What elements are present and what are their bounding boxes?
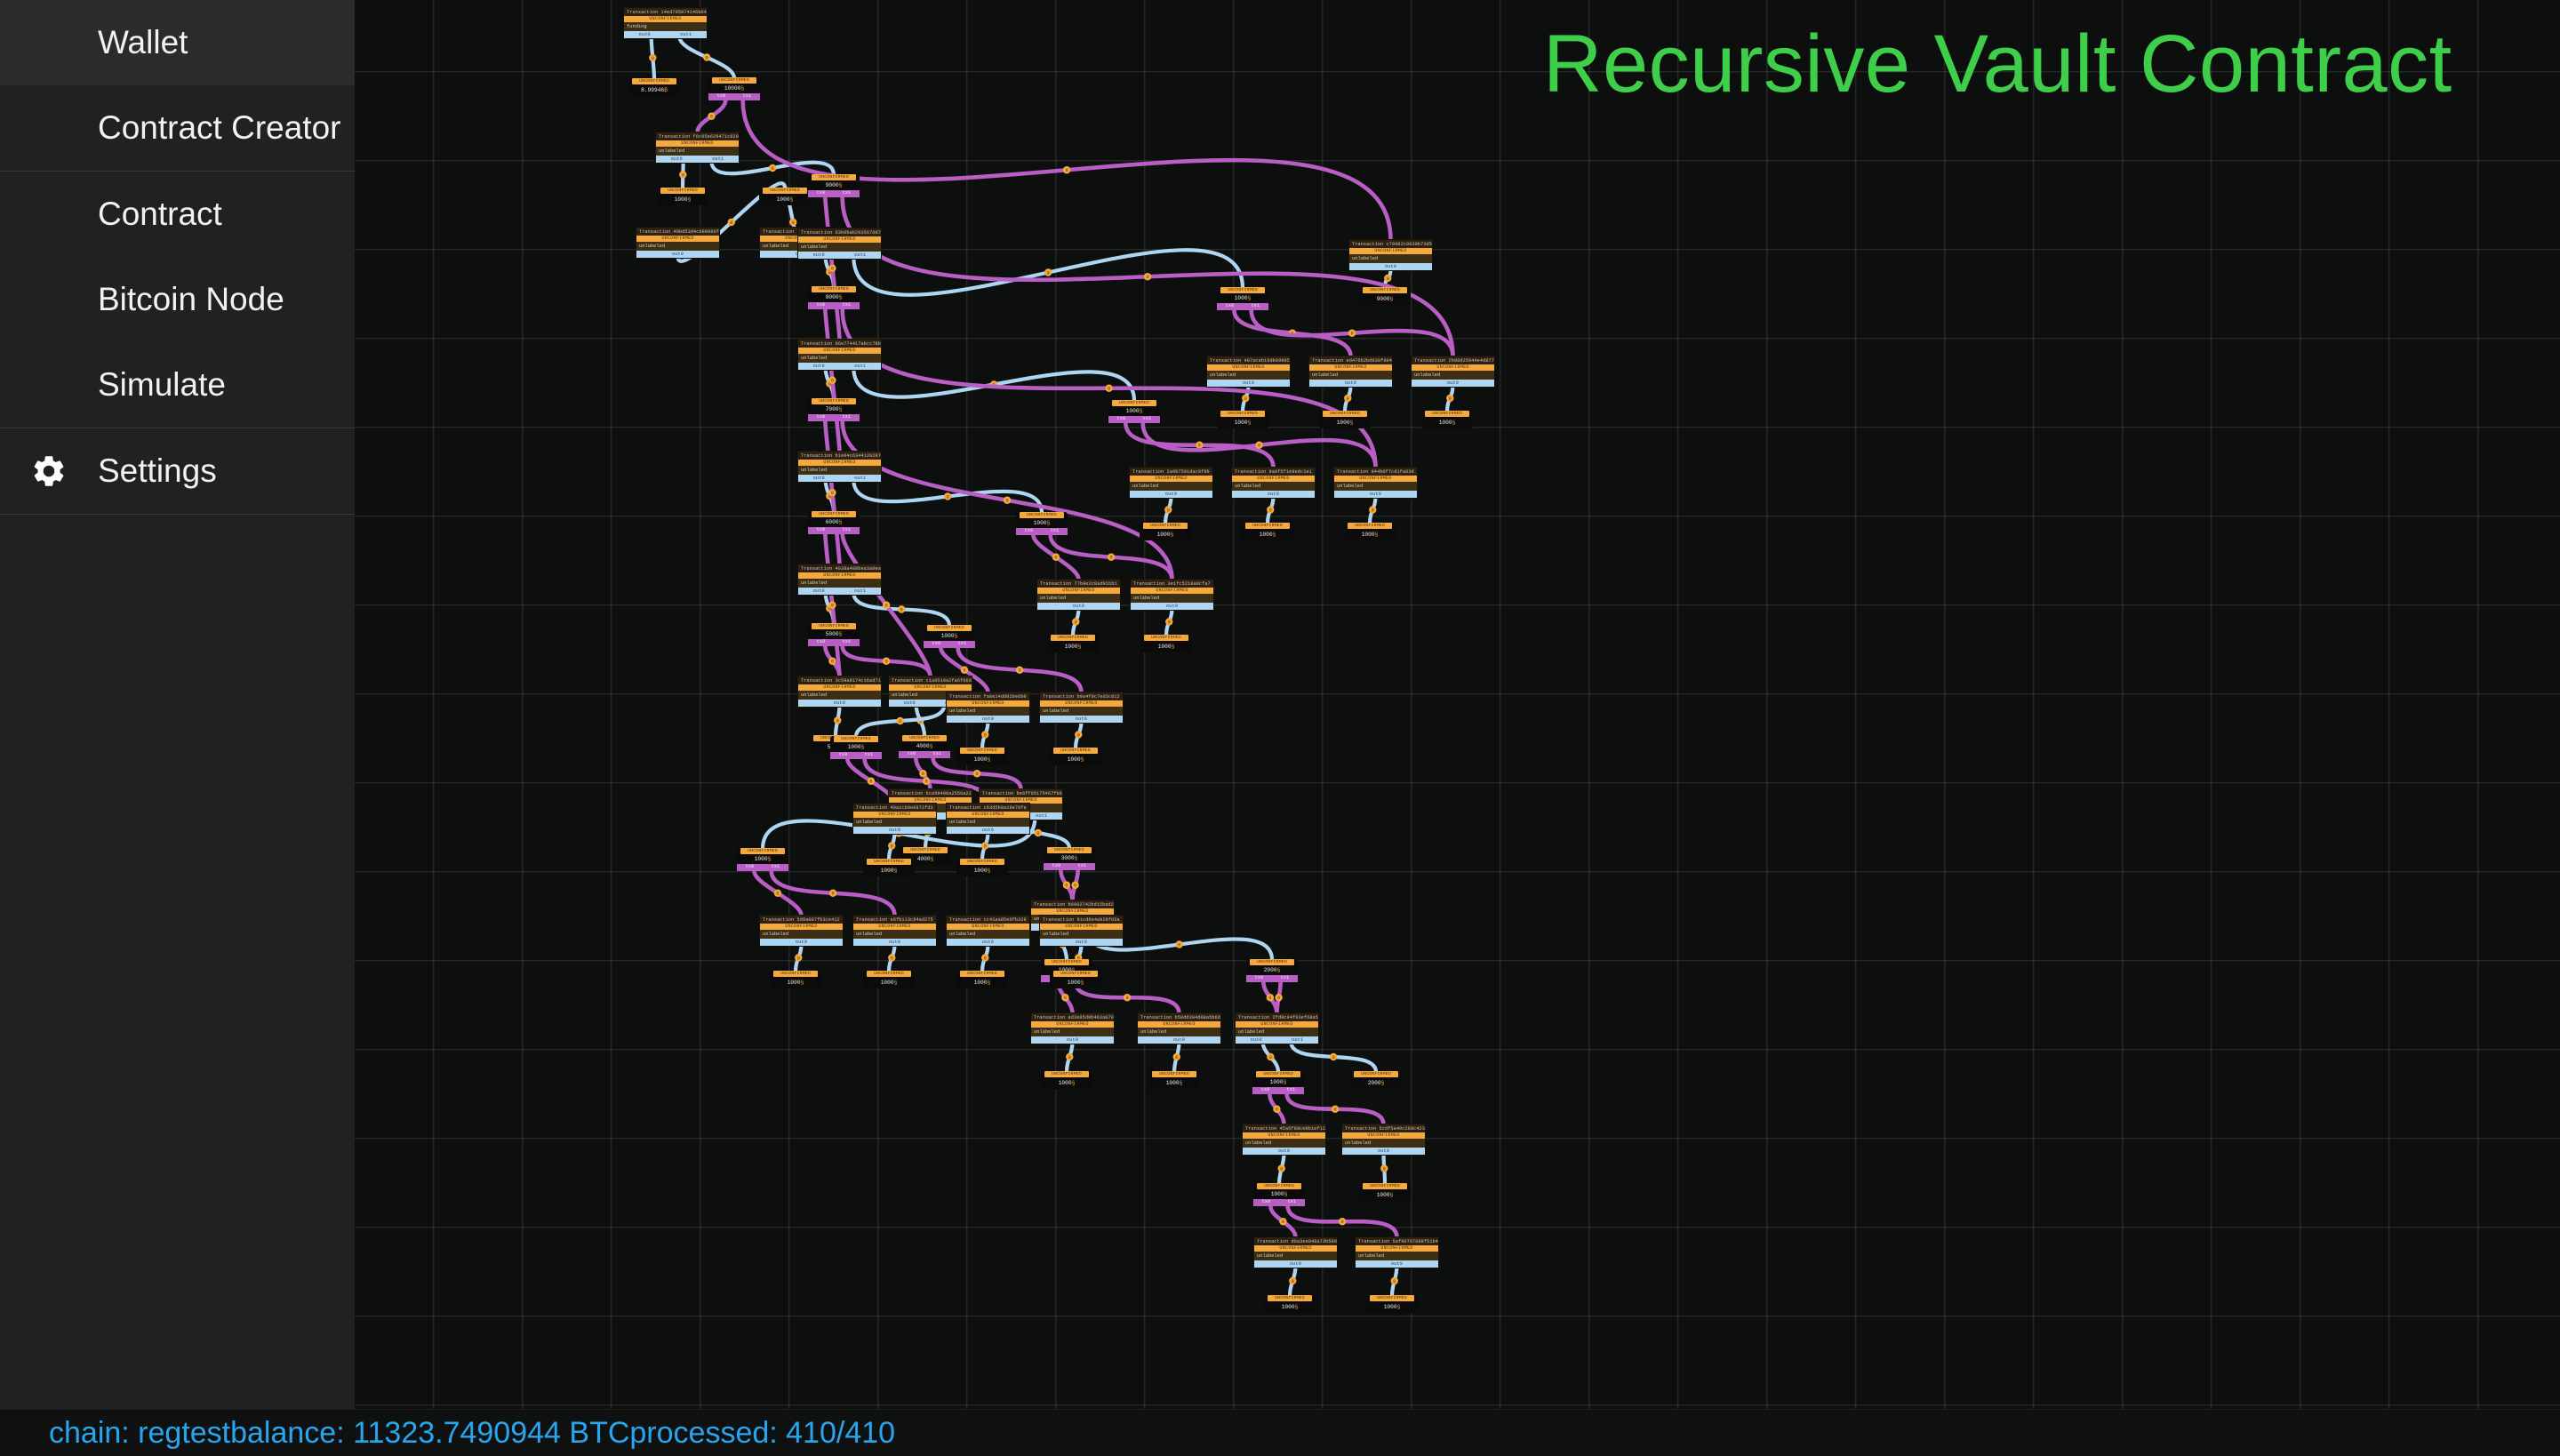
sidebar-item-contract-creator[interactable]: Contract Creator [0, 85, 355, 171]
output-port-0[interactable]: out0 [1243, 380, 1254, 387]
transaction-outputs[interactable]: out0 [1232, 491, 1315, 498]
status-badge: UNCONFIRMED [1031, 1021, 1114, 1028]
transaction-node[interactable]: Transaction d44b0f7cd1fa03dUNCONFIRMEDun… [1333, 467, 1418, 499]
edge-index-label: 0 [900, 607, 903, 612]
transaction-outputs[interactable]: out0 [1031, 1036, 1114, 1044]
status-badge: UNCONFIRMED [1236, 1021, 1318, 1028]
transaction-node[interactable]: Transaction 14ed705074146b04UNCONFIRMEDf… [623, 7, 708, 39]
utxo-node[interactable]: UNCONFIRMED8000§tx0tx1 [808, 286, 860, 309]
transaction-node[interactable]: Transaction 3e1fc5218a0cfa7UNCONFIRMEDun… [1130, 579, 1214, 611]
input-port-1[interactable]: tx1 [865, 752, 874, 759]
edge-index-label: 0 [885, 604, 888, 609]
edge-index-badge [973, 770, 980, 777]
input-port-1[interactable]: tx1 [743, 93, 752, 100]
output-port-0[interactable]: out0 [889, 827, 900, 834]
status-badge: UNCONFIRMED [1243, 1132, 1325, 1139]
transaction-hash: Transaction ad3e85d9b463a079 [1031, 1013, 1114, 1021]
transaction-outputs[interactable]: out0 [636, 251, 719, 258]
utxo-node[interactable]: UNCONFIRMED1000§ [1217, 411, 1268, 428]
transaction-outputs[interactable]: out0out1 [798, 252, 881, 259]
transaction-outputs[interactable]: out0 [1309, 380, 1392, 387]
utxo-node[interactable]: UNCONFIRMED1000§ [770, 971, 821, 988]
utxo-inputs[interactable]: tx0tx1 [708, 93, 760, 100]
utxo-node[interactable]: UNCONFIRMED1000§tx0tx1 [1253, 1183, 1305, 1206]
edge-index-badge [981, 842, 988, 849]
utxo-node[interactable]: UNCONFIRMED1000§ [657, 188, 708, 205]
transaction-outputs[interactable]: out0out1 [624, 31, 707, 38]
input-port-1[interactable]: tx1 [843, 414, 852, 421]
utxo-node[interactable]: UNCONFIRMED1000§tx0tx1 [1217, 287, 1268, 310]
utxo-amount-value: 4000 [916, 743, 930, 749]
edge-index-badge [828, 602, 836, 609]
output-port-0[interactable]: out0 [1173, 1036, 1185, 1044]
output-port-0[interactable]: out0 [834, 700, 845, 707]
edge-index-badge [1196, 442, 1203, 449]
graph-edge [1051, 535, 1172, 580]
input-port-0[interactable]: tx0 [817, 190, 826, 197]
utxo-inputs[interactable]: tx0tx1 [924, 641, 975, 648]
utxo-node[interactable]: UNCONFIRMED1000§ [1140, 635, 1192, 652]
edge-index-label: 0 [1334, 1108, 1337, 1113]
input-port-0[interactable]: tx0 [1226, 303, 1235, 310]
utxo-amount-value: 5000 [826, 631, 839, 637]
utxo-node[interactable]: UNCONFIRMED1000§ [956, 971, 1008, 988]
edge-index-badge [826, 268, 833, 276]
edge-index-badge [1384, 275, 1391, 282]
utxo-amount-value: 2000 [1264, 967, 1277, 973]
utxo-inputs[interactable]: tx0tx1 [1217, 303, 1268, 310]
transaction-outputs[interactable]: out0 [1138, 1036, 1220, 1044]
utxo-node[interactable]: UNCONFIRMED1000§tx0tx1 [1108, 400, 1160, 423]
input-port-1[interactable]: tx1 [1143, 416, 1152, 423]
graph-edge [1370, 496, 1376, 524]
transaction-node[interactable]: Transaction 77b9e2c8ad91bb1UNCONFIRMEDun… [1036, 579, 1121, 611]
utxo-amount-value: 1000 [1166, 1080, 1180, 1086]
transaction-label: unlabeled [760, 930, 843, 939]
utxo-inputs[interactable]: tx0tx1 [1044, 863, 1095, 870]
utxo-amount-value: 1000 [1235, 295, 1248, 301]
input-port-0[interactable]: tx0 [1261, 1087, 1270, 1094]
utxo-node[interactable]: UNCONFIRMED1000§ [863, 859, 915, 876]
output-port-0[interactable]: out0 [1251, 1036, 1262, 1044]
transaction-outputs[interactable]: out0 [1037, 603, 1120, 610]
utxo-node[interactable]: UNCONFIRMED1000§ [956, 859, 1008, 876]
input-port-0[interactable]: tx0 [817, 302, 826, 309]
output-port-1[interactable]: out1 [854, 588, 866, 595]
transaction-outputs[interactable]: out0 [1342, 1148, 1425, 1155]
utxo-node[interactable]: UNCONFIRMED7000§tx0tx1 [808, 398, 860, 421]
utxo-amount-value: 1000 [881, 868, 894, 874]
graph-edge [1345, 385, 1351, 412]
utxo-node[interactable]: UNCONFIRMED1000§ [1148, 1071, 1200, 1089]
edge-index-label: 0 [831, 660, 834, 665]
transaction-outputs[interactable]: out0 [1130, 491, 1212, 498]
input-port-0[interactable]: tx0 [1262, 1199, 1271, 1206]
edge-index-badge [923, 778, 930, 785]
utxo-inputs[interactable]: tx0tx1 [899, 751, 950, 758]
output-port-0[interactable]: out0 [1073, 603, 1084, 610]
utxo-amount: 1000§ [1050, 977, 1101, 988]
transaction-node[interactable]: Transaction e8fb113c94ad275UNCONFIRMEDun… [852, 915, 937, 947]
output-port-0[interactable]: out0 [813, 475, 825, 482]
status-badge: UNCONFIRMED [624, 16, 707, 22]
utxo-node[interactable]: UNCONFIRMED1000§ [1264, 1295, 1316, 1313]
transaction-node[interactable]: Transaction b9a4f0c7ed3c812UNCONFIRMEDun… [1039, 692, 1124, 724]
edge-index-badge [1105, 385, 1112, 392]
utxo-node[interactable]: UNCONFIRMED1000§ [1050, 971, 1101, 988]
output-port-0[interactable]: out0 [982, 716, 994, 723]
utxo-inputs[interactable]: tx0tx1 [1108, 416, 1160, 423]
utxo-node[interactable]: UNCONFIRMED1000§tx0tx1 [830, 736, 882, 759]
transaction-label: unlabeled [798, 691, 881, 700]
utxo-node[interactable]: UNCONFIRMED1000§tx0tx1 [1016, 512, 1068, 535]
sidebar-item-wallet[interactable]: Wallet [0, 0, 355, 85]
sidebar-item-simulate[interactable]: Simulate [0, 342, 355, 428]
transaction-hash: Transaction 5af90797089f51b4 [1356, 1237, 1438, 1245]
sidebar-item-label: Simulate [98, 366, 226, 404]
transaction-label: unlabeled [1031, 1028, 1114, 1036]
utxo-amount-value: 2000 [1368, 1080, 1381, 1086]
edge-index-label: 0 [1351, 332, 1354, 337]
status-badge: UNCONFIRMED [947, 924, 1029, 930]
output-port-0[interactable]: out0 [813, 588, 825, 595]
output-port-0[interactable]: out0 [1166, 603, 1178, 610]
utxo-node[interactable]: UNCONFIRMED5000§tx0tx1 [808, 623, 860, 646]
transaction-hash: Transaction c63d5b8a19e70fa [947, 804, 1029, 812]
output-port-0[interactable]: out0 [1067, 1036, 1078, 1044]
utxo-node[interactable]: UNCONFIRMED1000§ [1344, 523, 1396, 540]
graph-edge [1073, 870, 1078, 901]
edge-index-badge [1108, 554, 1115, 561]
transaction-outputs[interactable]: out0 [947, 827, 1029, 834]
input-port-1[interactable]: tx1 [1252, 303, 1260, 310]
transaction-label: unlabeled [1334, 482, 1417, 491]
output-port-0[interactable]: out0 [1370, 491, 1381, 498]
output-port-0[interactable]: out0 [1076, 939, 1087, 946]
utxo-inputs[interactable]: tx0tx1 [1246, 975, 1298, 982]
output-port-1[interactable]: out1 [854, 475, 866, 482]
transaction-outputs[interactable]: out0 [1040, 939, 1123, 946]
output-port-0[interactable]: out0 [671, 156, 683, 163]
graph-edge [796, 944, 802, 972]
output-port-0[interactable]: out0 [1378, 1148, 1389, 1155]
input-port-0[interactable]: tx0 [1117, 416, 1126, 423]
transaction-node[interactable]: Transaction 5af90797089f51b4UNCONFIRMEDu… [1355, 1236, 1439, 1268]
utxo-node[interactable]: UNCONFIRMED1000§ [1359, 1183, 1411, 1201]
utxo-node[interactable]: UNCONFIRMED9000§ [1359, 287, 1411, 305]
output-port-1[interactable]: out1 [854, 252, 866, 259]
transaction-outputs[interactable]: out0 [853, 827, 936, 834]
status-badge: UNCONFIRMED [1245, 523, 1290, 529]
status-badge: UNCONFIRMED [1232, 476, 1315, 482]
utxo-node[interactable]: UNCONFIRMED1000§ [1140, 523, 1191, 540]
transaction-node[interactable]: Transaction b50dd304d08a5b6dUNCONFIRMEDu… [1137, 1012, 1221, 1044]
output-port-0[interactable]: out0 [1391, 1260, 1403, 1268]
graph-edge [825, 421, 839, 565]
utxo-amount: 1000§ [1148, 1077, 1200, 1089]
utxo-unit-symbol: § [839, 294, 843, 300]
transaction-outputs[interactable]: out0out1 [656, 156, 739, 163]
edge-index-badge [1035, 829, 1042, 836]
utxo-amount-value: 1000 [1126, 408, 1140, 414]
utxo-node[interactable]: UNCONFIRMED2000§tx0tx1 [1246, 959, 1298, 982]
transaction-hash: Transaction 3c59a8174c16ad71 [798, 676, 881, 684]
input-port-1[interactable]: tx1 [843, 639, 852, 646]
utxo-amount: 1000§ [1140, 641, 1192, 652]
transaction-node[interactable]: Transaction d6a3ee048a73b50dUNCONFIRMEDu… [1253, 1236, 1338, 1268]
edge-index-badge [1173, 1053, 1180, 1060]
transaction-outputs[interactable]: out0out1 [1236, 1036, 1318, 1044]
output-port-0[interactable]: out0 [813, 252, 825, 259]
transaction-node[interactable]: Transaction c63d5b8a19e70faUNCONFIRMEDun… [946, 803, 1030, 835]
output-port-0[interactable]: out0 [1290, 1260, 1301, 1268]
transaction-outputs[interactable]: out0 [1334, 491, 1417, 498]
transaction-outputs[interactable]: out0 [1040, 716, 1123, 723]
utxo-unit-symbol: § [1375, 532, 1379, 538]
transaction-node[interactable]: Transaction ad3e85d9b463a079UNCONFIRMEDu… [1030, 1012, 1115, 1044]
output-port-0[interactable]: out0 [982, 939, 994, 946]
transaction-node[interactable]: Transaction 2a9b7501dac0f8bUNCONFIRMEDun… [1129, 467, 1213, 499]
utxo-amount: 1000§ [1252, 1077, 1304, 1087]
utxo-inputs[interactable]: tx0tx1 [830, 752, 882, 759]
utxo-amount: 1000§ [956, 754, 1008, 765]
transaction-node[interactable]: Transaction b1e04c6344120287UNCONFIRMEDu… [797, 451, 882, 483]
status-badge: UNCONFIRMED [947, 812, 1029, 818]
transaction-node[interactable]: Transaction 40bd53d4cb90866fUNCONFIRMEDu… [636, 227, 720, 259]
utxo-amount-value: 1000 [974, 756, 988, 763]
sidebar-item-settings[interactable]: Settings [0, 428, 355, 514]
utxo-node[interactable]: UNCONFIRMED1000§ [1366, 1295, 1418, 1313]
transaction-outputs[interactable]: out0 [760, 939, 843, 946]
utxo-inputs[interactable]: tx0tx1 [808, 527, 860, 534]
output-port-1[interactable]: out1 [854, 363, 866, 370]
output-port-0[interactable]: out0 [1385, 263, 1396, 270]
utxo-node[interactable]: UNCONFIRMED1000§tx0tx1 [1252, 1071, 1304, 1094]
graph-edge [1268, 496, 1274, 524]
utxo-node[interactable]: UNCONFIRMED1000§ [759, 188, 811, 205]
transaction-node[interactable]: Transaction 3c59a8174c16ad71UNCONFIRMEDu… [797, 676, 882, 708]
transaction-hash: Transaction d6a3ee048a73b50d [1254, 1237, 1337, 1245]
utxo-inputs[interactable]: tx0tx1 [1253, 1199, 1305, 1206]
transaction-node[interactable]: Transaction 91cd6e4ab28f05aUNCONFIRMEDun… [1039, 915, 1124, 947]
utxo-node[interactable]: UNCONFIRMED9000§tx0tx1 [808, 174, 860, 197]
utxo-unit-symbol: § [1081, 980, 1084, 986]
utxo-node[interactable]: UNCONFIRMED4000§tx0tx1 [899, 735, 950, 758]
graph-edge [1385, 268, 1391, 288]
status-badge: UNCONFIRMED [1349, 248, 1432, 254]
transaction-node[interactable]: Transaction 4038a488bea3a0eaUNCONFIRMEDu… [797, 564, 882, 596]
transaction-label: unlabeled [1342, 1139, 1425, 1148]
output-port-1[interactable]: out1 [1036, 812, 1047, 820]
transaction-node[interactable]: Transaction ed476b2bd830f904UNCONFIRMEDu… [1308, 356, 1393, 388]
transaction-node[interactable]: Transaction 06e774417abcc78bUNCONFIRMEDu… [797, 339, 882, 371]
edge-index-label: 0 [797, 956, 800, 961]
utxo-inputs[interactable]: tx0tx1 [1252, 1087, 1304, 1094]
status-badge: UNCONFIRMED [773, 971, 818, 977]
input-port-0[interactable]: tx0 [1052, 863, 1061, 870]
input-port-0[interactable]: tx0 [746, 864, 755, 871]
utxo-node[interactable]: UNCONFIRMED8.99946₿ [628, 78, 680, 96]
utxo-node[interactable]: UNCONFIRMED1000§ [1050, 748, 1101, 765]
utxo-inputs[interactable]: tx0tx1 [808, 414, 860, 421]
utxo-inputs[interactable]: tx0tx1 [737, 864, 788, 871]
output-port-0[interactable]: out0 [1345, 380, 1356, 387]
transaction-node[interactable]: Transaction cc41aa85e0fb329UNCONFIRMEDun… [946, 915, 1030, 947]
transaction-outputs[interactable]: out0out1 [798, 475, 881, 482]
utxo-unit-symbol: § [1350, 420, 1354, 426]
utxo-unit-symbol: § [740, 85, 744, 92]
transaction-node[interactable]: Transaction 9a0f5f1e9edc3a1UNCONFIRMEDun… [1231, 467, 1316, 499]
transaction-outputs[interactable]: out0 [798, 700, 881, 707]
utxo-inputs[interactable]: tx0tx1 [808, 190, 860, 197]
edge-index-badge [1164, 506, 1172, 513]
output-port-0[interactable]: out0 [1268, 491, 1279, 498]
transaction-outputs[interactable]: out0 [1131, 603, 1213, 610]
graph-canvas[interactable]: Recursive Vault Contract 000000000000000… [355, 0, 2560, 1410]
utxo-node[interactable]: UNCONFIRMED2000§ [1350, 1071, 1402, 1089]
input-port-0[interactable]: tx0 [817, 414, 826, 421]
utxo-inputs[interactable]: tx0tx1 [808, 639, 860, 646]
edge-index-badge [795, 954, 802, 961]
sidebar-item-bitcoin-node[interactable]: Bitcoin Node [0, 257, 355, 342]
graph-edge [652, 36, 654, 79]
input-port-1[interactable]: tx1 [933, 751, 942, 758]
utxo-node[interactable]: UNCONFIRMED1000§ [1421, 411, 1473, 428]
input-port-0[interactable]: tx0 [908, 751, 916, 758]
input-port-0[interactable]: tx0 [717, 93, 726, 100]
utxo-amount-value: 1000 [755, 856, 768, 862]
edge-index-badge [1061, 994, 1068, 1001]
transaction-outputs[interactable]: out0 [1207, 380, 1290, 387]
transaction-node[interactable]: Transaction 5cdf5a40c268c423UNCONFIRMEDu… [1341, 1124, 1426, 1156]
transaction-node[interactable]: Transaction 63b0bab2035670d7UNCONFIRMEDu… [797, 228, 882, 260]
transaction-outputs[interactable]: out0 [1243, 1148, 1325, 1155]
input-port-1[interactable]: tx1 [1078, 863, 1087, 870]
input-port-0[interactable]: tx0 [817, 639, 826, 646]
transaction-outputs[interactable]: out0 [1356, 1260, 1438, 1268]
transaction-outputs[interactable]: out0out1 [798, 588, 881, 595]
utxo-inputs[interactable]: tx0tx1 [808, 302, 860, 309]
output-port-0[interactable]: out0 [796, 939, 807, 946]
transaction-label: unlabeled [1356, 1252, 1438, 1260]
edge-index-label: 0 [706, 55, 708, 60]
input-port-0[interactable]: tx0 [1255, 975, 1264, 982]
utxo-node[interactable]: UNCONFIRMED1000§ [863, 971, 915, 988]
edge-index-badge [888, 842, 895, 849]
transaction-outputs[interactable]: out0 [947, 939, 1029, 946]
edge-index-label: 0 [1291, 332, 1293, 337]
transaction-node[interactable]: Transaction fa8e14dd02be6b0UNCONFIRMEDun… [946, 692, 1030, 724]
output-port-1[interactable]: out1 [712, 156, 724, 163]
input-port-1[interactable]: tx1 [843, 527, 852, 534]
edge-index-label: 0 [1341, 1220, 1344, 1225]
transaction-outputs[interactable]: out0out1 [798, 363, 881, 370]
status-badge: UNCONFIRMED [1044, 959, 1089, 965]
utxo-node[interactable]: UNCONFIRMED1000§ [1041, 1071, 1092, 1089]
utxo-amount-value: 1000 [1271, 1191, 1284, 1197]
edge-index-badge [834, 716, 841, 724]
transaction-outputs[interactable]: out0 [853, 939, 936, 946]
output-port-0[interactable]: out0 [1165, 491, 1177, 498]
output-port-0[interactable]: out0 [813, 363, 825, 370]
input-port-1[interactable]: tx1 [843, 190, 852, 197]
edge-index-label: 0 [1276, 1108, 1278, 1113]
transaction-node[interactable]: Transaction 40a1cb9e0872fd3UNCONFIRMEDun… [852, 803, 937, 835]
utxo-inputs[interactable]: tx0tx1 [1016, 528, 1068, 535]
utxo-node[interactable]: UNCONFIRMED1000§ [956, 748, 1008, 765]
edge-index-badge [1339, 1218, 1346, 1225]
utxo-amount-value: 1000 [1068, 756, 1081, 763]
graph-edge [1125, 423, 1273, 468]
transaction-outputs[interactable]: out0 [1412, 380, 1494, 387]
utxo-node[interactable]: UNCONFIRMED1000§tx0tx1 [737, 848, 788, 871]
utxo-node[interactable]: UNCONFIRMED1000§ [1047, 635, 1099, 652]
status-badge: UNCONFIRMED [1040, 700, 1123, 707]
utxo-amount: 1000§ [830, 742, 882, 752]
transaction-node[interactable]: Transaction 487aceb19db09995UNCONFIRMEDu… [1206, 356, 1291, 388]
utxo-node[interactable]: UNCONFIRMED1000§tx0tx1 [924, 625, 975, 648]
transaction-node[interactable]: Transaction 2fd8c94f63ef68a5UNCONFIRMEDu… [1235, 1012, 1319, 1044]
utxo-node[interactable]: UNCONFIRMED1000§ [1242, 523, 1293, 540]
input-port-1[interactable]: tx1 [1288, 1199, 1297, 1206]
transaction-node[interactable]: Transaction c70982c9830b73d5UNCONFIRMEDu… [1348, 239, 1433, 271]
transaction-outputs[interactable]: out0 [1349, 263, 1432, 270]
graph-edge [825, 534, 839, 677]
utxo-amount: 1000§ [924, 631, 975, 641]
transaction-node[interactable]: Transaction 2b00d25944e4d877UNCONFIRMEDu… [1411, 356, 1495, 388]
output-port-1[interactable]: out1 [680, 31, 692, 38]
input-port-0[interactable]: tx0 [932, 641, 941, 648]
utxo-node[interactable]: UNCONFIRMED3000§tx0tx1 [1044, 847, 1095, 870]
transaction-node[interactable]: Transaction f6c05e629471c029UNCONFIRMEDu… [655, 132, 740, 164]
output-port-1[interactable]: out1 [1292, 1036, 1303, 1044]
utxo-amount-value: 1000 [881, 980, 894, 986]
output-port-0[interactable]: out0 [639, 31, 651, 38]
output-port-0[interactable]: out0 [889, 939, 900, 946]
utxo-amount-value: 7000 [826, 406, 839, 412]
sidebar-item-contract[interactable]: Contract [0, 172, 355, 257]
edge-index-label: 0 [1258, 444, 1260, 449]
input-port-1[interactable]: tx1 [772, 864, 780, 871]
input-port-1[interactable]: tx1 [1281, 975, 1290, 982]
output-port-0[interactable]: out0 [1447, 380, 1459, 387]
transaction-outputs[interactable]: out0 [947, 716, 1029, 723]
output-port-0[interactable]: out0 [1278, 1148, 1290, 1155]
output-port-0[interactable]: out0 [982, 827, 994, 834]
status-badge: UNCONFIRMED [1425, 411, 1469, 417]
transaction-outputs[interactable]: out0 [1254, 1260, 1337, 1268]
output-port-0[interactable]: out0 [672, 251, 684, 258]
status-badge: UNCONFIRMED [1053, 971, 1098, 977]
utxo-node[interactable]: UNCONFIRMED10000§tx0tx1 [708, 77, 760, 100]
transaction-node[interactable]: Transaction 5d9a007fb3ce412UNCONFIRMEDun… [759, 915, 844, 947]
output-port-0[interactable]: out0 [904, 700, 916, 707]
input-port-0[interactable]: tx0 [1025, 528, 1034, 535]
utxo-node[interactable]: UNCONFIRMED6000§tx0tx1 [808, 511, 860, 534]
graph-edge [1269, 1094, 1284, 1125]
output-port-0[interactable]: out0 [1076, 716, 1087, 723]
input-port-1[interactable]: tx1 [1051, 528, 1060, 535]
utxo-node[interactable]: UNCONFIRMED1000§ [1319, 411, 1371, 428]
input-port-1[interactable]: tx1 [1287, 1087, 1296, 1094]
input-port-1[interactable]: tx1 [958, 641, 967, 648]
utxo-unit-symbol: § [839, 406, 843, 412]
input-port-0[interactable]: tx0 [839, 752, 848, 759]
edge-index-badge [1332, 1106, 1339, 1113]
input-port-1[interactable]: tx1 [843, 302, 852, 309]
transaction-node[interactable]: Transaction 45a5f99ce8b1ef12UNCONFIRMEDu… [1242, 1124, 1326, 1156]
input-port-0[interactable]: tx0 [817, 527, 826, 534]
